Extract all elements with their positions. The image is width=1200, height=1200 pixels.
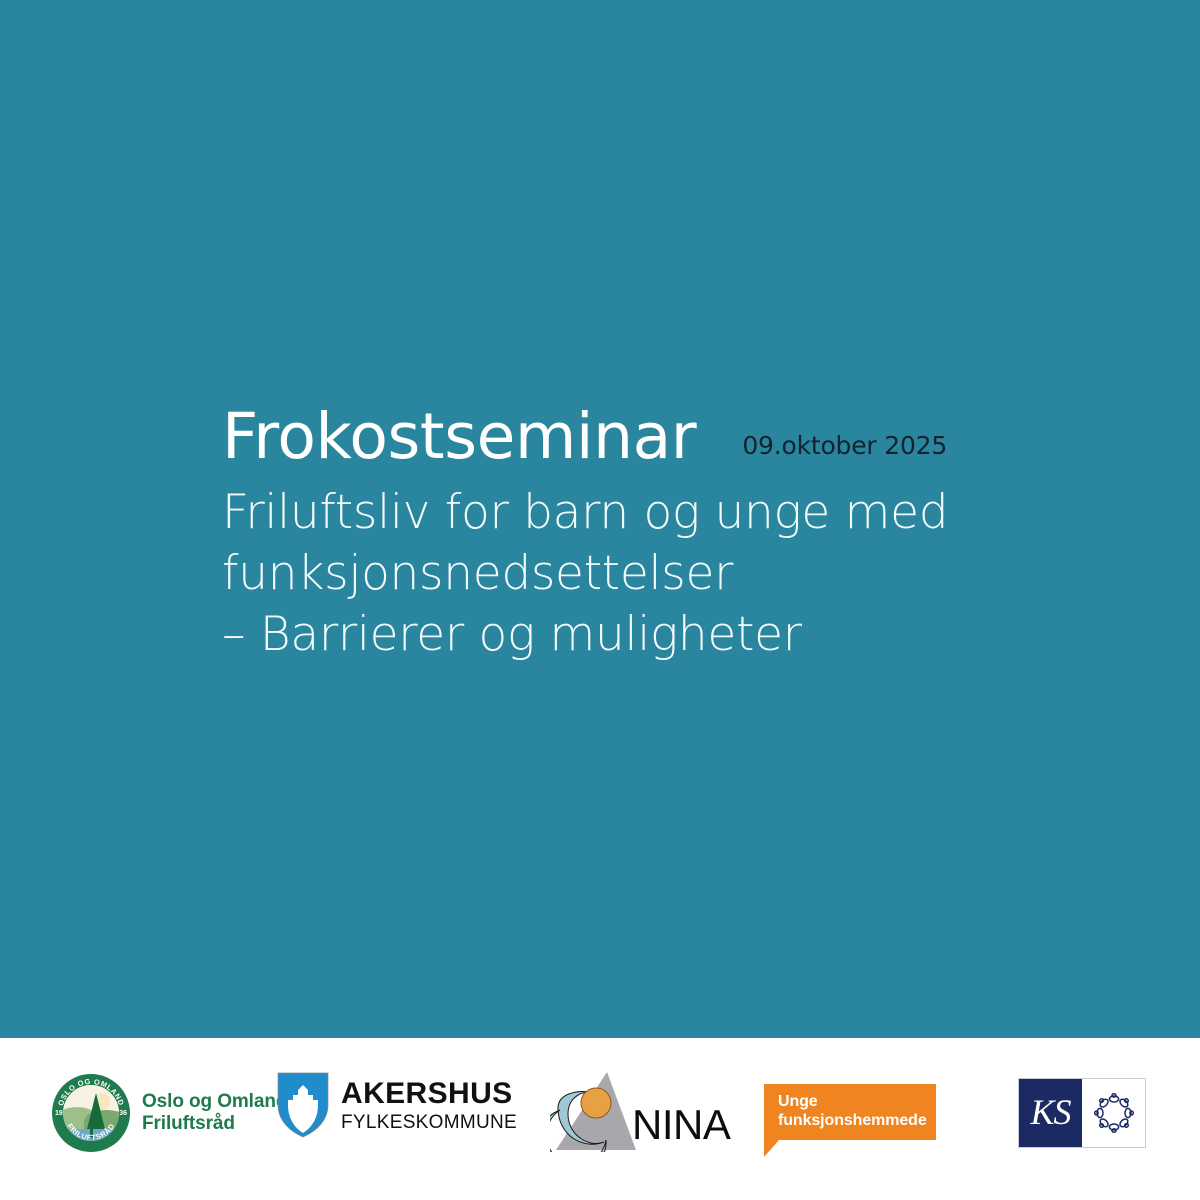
ks-wordmark: KS (1030, 1091, 1070, 1133)
akershus-name-sub: FYLKESKOMMUNE (341, 1113, 517, 1132)
akershus-name-main: AKERSHUS (341, 1079, 517, 1109)
logo-oslo-og-omland-friluftsrad: OSLO OG OMLAND FRILUFTSRÅD 19 36 Oslo og… (52, 1074, 287, 1152)
seal-year-left: 19 (55, 1110, 63, 1117)
title-block: Frokostseminar 09.oktober 2025 Friluftsl… (222, 404, 1122, 665)
nina-triangle-icon (550, 1070, 636, 1152)
event-date: 09.oktober 2025 (742, 431, 947, 460)
page-title: Frokostseminar (222, 404, 696, 470)
svg-text:OSLO OG OMLAND: OSLO OG OMLAND (56, 1077, 126, 1107)
presentation-slide: Frokostseminar 09.oktober 2025 Friluftsl… (0, 0, 1200, 1200)
logo-ks: KS (1018, 1078, 1146, 1148)
unge-wordmark: Unge funksjonshemmede (778, 1093, 927, 1131)
ks-emblem-panel (1082, 1079, 1145, 1147)
friluftsrad-wordmark: Oslo og Omland Friluftsråd (142, 1091, 287, 1136)
subtitle-line-2: funksjonsnedsettelser (222, 543, 1002, 604)
seal-year-right: 36 (119, 1110, 127, 1117)
logo-unge-funksjonshemmede: Unge funksjonshemmede (764, 1084, 936, 1140)
akershus-shield-icon (277, 1072, 329, 1138)
unge-name-line-1: Unge (778, 1093, 927, 1112)
subtitle-line-3: – Barrierer og muligheter (222, 604, 1002, 665)
friluftsrad-name-line-2: Friluftsråd (142, 1113, 287, 1135)
svg-text:FRILUFTSRÅD: FRILUFTSRÅD (65, 1122, 116, 1142)
ring-of-people-icon (1092, 1091, 1136, 1135)
title-row: Frokostseminar 09.oktober 2025 (222, 404, 1122, 470)
logo-nina: NINA (550, 1070, 730, 1152)
unge-speech-bubble-icon: Unge funksjonshemmede (764, 1084, 936, 1140)
subtitle-line-1: Friluftsliv for barn og unge med (222, 482, 1002, 543)
logo-akershus-fylkeskommune: AKERSHUS FYLKESKOMMUNE (277, 1072, 517, 1138)
ks-logo-box: KS (1018, 1078, 1146, 1148)
friluftsrad-seal-icon: OSLO OG OMLAND FRILUFTSRÅD 19 36 (52, 1074, 130, 1152)
nina-wordmark: NINA (632, 1101, 730, 1149)
ks-letters-panel: KS (1019, 1079, 1082, 1147)
friluftsrad-name-line-1: Oslo og Omland (142, 1091, 287, 1113)
unge-name-line-2: funksjonshemmede (778, 1112, 927, 1131)
subtitle: Friluftsliv for barn og unge med funksjo… (222, 482, 1002, 665)
akershus-wordmark: AKERSHUS FYLKESKOMMUNE (341, 1079, 517, 1132)
